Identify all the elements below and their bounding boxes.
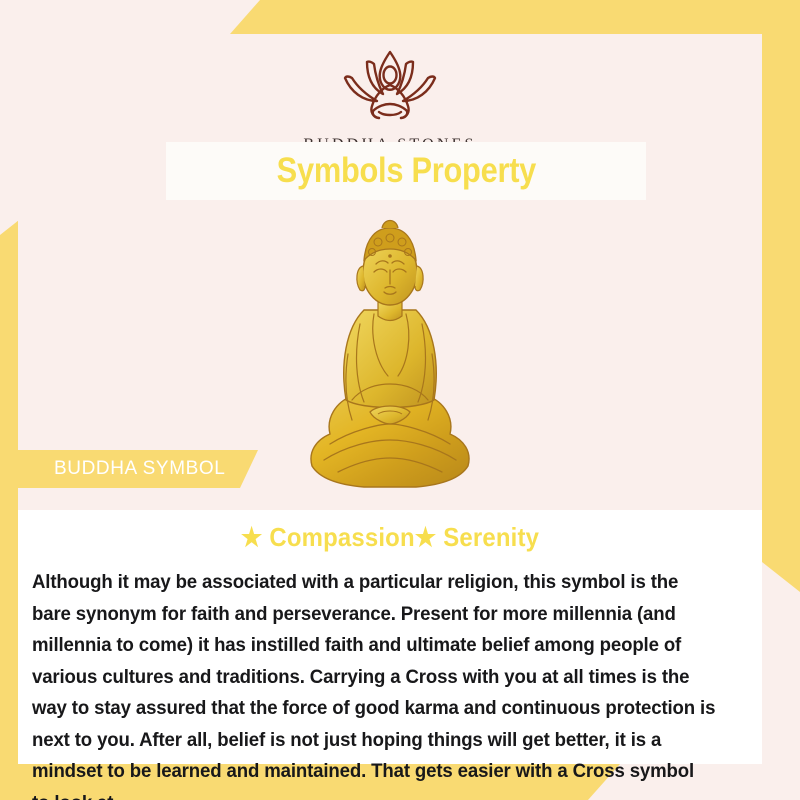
decorative-band-top <box>230 0 800 34</box>
article-subtitle: ★ Compassion★ Serenity <box>61 522 720 553</box>
buddha-symbol-ribbon: BUDDHA SYMBOL <box>18 450 258 488</box>
article-panel: ★ Compassion★ Serenity Although it may b… <box>18 510 762 764</box>
title-band: Symbols Property <box>166 142 646 200</box>
lotus-meditation-figure-icon <box>315 44 465 132</box>
article-body-text: Although it may be associated with a par… <box>32 567 716 800</box>
buddha-statue-image <box>290 204 490 494</box>
content-stage: BUDDHA STONES Symbols Property <box>18 34 762 764</box>
buddha-symbol-label: BUDDHA SYMBOL <box>18 458 225 480</box>
page-title: Symbols Property <box>276 151 535 191</box>
brand-header: BUDDHA STONES <box>18 34 762 154</box>
decorative-band-right <box>762 0 800 592</box>
infographic-page: BUDDHA STONES Symbols Property <box>0 0 800 800</box>
golden-seated-buddha-statue-icon <box>290 204 490 494</box>
